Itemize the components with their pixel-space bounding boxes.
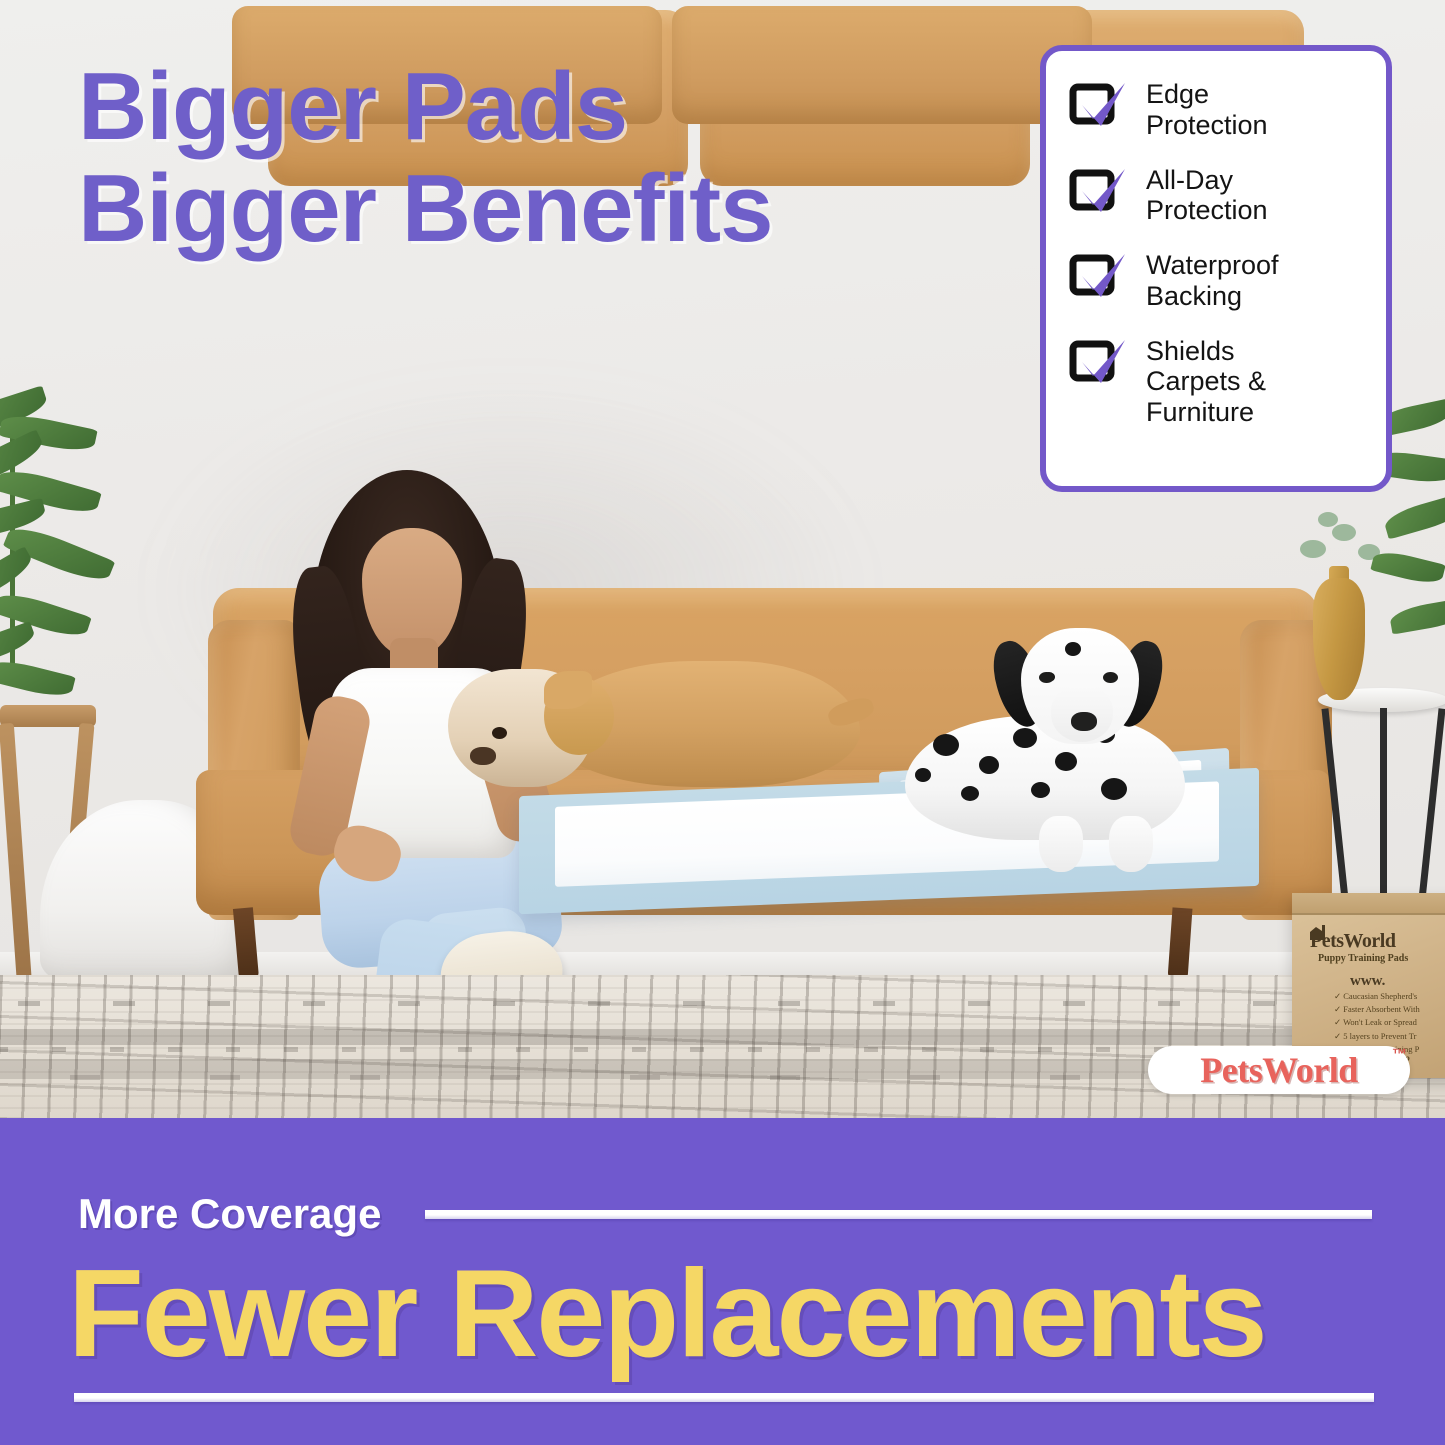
banner-headline-text: Fewer Replacements [68, 1243, 1266, 1385]
eucalyptus-leaf [1300, 540, 1326, 558]
dalmatian-paw [1109, 816, 1153, 872]
dalmatian-dog [905, 620, 1235, 870]
checkbox-check-icon [1068, 250, 1130, 304]
feature-item-waterproof-backing: Waterproof Backing [1068, 248, 1368, 312]
headline-line-1: Bigger Pads [78, 53, 627, 160]
feature-label: All-Day Protection [1146, 163, 1268, 227]
feature-label: Edge Protection [1146, 77, 1268, 141]
feature-item-edge-protection: Edge Protection [1068, 77, 1368, 141]
checkbox-check-icon [1068, 336, 1130, 390]
checkbox-check-icon [1068, 79, 1130, 133]
banner-bottom-rule [74, 1393, 1374, 1402]
headline-line-2: Bigger Benefits [78, 155, 772, 262]
brand-logo-pill: PetsWorld [1148, 1046, 1410, 1094]
banner-divider-rule [425, 1210, 1372, 1219]
feature-item-shields-carpets-furniture: Shields Carpets & Furniture [1068, 334, 1368, 428]
feature-item-all-day-protection: All-Day Protection [1068, 163, 1368, 227]
dalmatian-eye [1103, 672, 1118, 683]
box-website: www. [1350, 973, 1385, 990]
box-flap [1292, 893, 1445, 915]
box-feature-item: ✓ Won't Leak or Spread [1334, 1016, 1445, 1029]
product-marketing-poster: PetsWorld Puppy Training Pads www. ✓ Cau… [0, 0, 1445, 1445]
checkbox-check-icon [1068, 165, 1130, 219]
trademark-symbol: ™ [1392, 1046, 1407, 1063]
bulldog-head [448, 669, 594, 787]
page-title: Bigger Pads Bigger Benefits [78, 56, 772, 260]
face [362, 528, 462, 656]
feature-label: Shields Carpets & Furniture [1146, 334, 1266, 428]
box-feature-item: ✓ 5 layers to Prevent Tr [1334, 1030, 1445, 1043]
dalmatian-eye [1039, 672, 1054, 683]
feature-checklist-card: Edge Protection All-Day Protection Water… [1040, 45, 1392, 492]
dalmatian-paw [1039, 816, 1083, 872]
banner-kicker-text: More Coverage [78, 1190, 381, 1238]
feature-label: Waterproof Backing [1146, 248, 1279, 312]
dalmatian-nose [1071, 712, 1097, 731]
eucalyptus-leaf [1332, 524, 1356, 541]
brand-logo-text: PetsWorld [1200, 1049, 1357, 1091]
houseplant-left [0, 390, 180, 720]
gold-vase [1313, 578, 1365, 700]
box-tagline: Puppy Training Pads [1318, 953, 1445, 964]
box-feature-item: ✓ Faster Absorbent With [1334, 1003, 1445, 1016]
banner-kicker-row: More Coverage [78, 1190, 1372, 1238]
box-feature-item: ✓ Caucasian Shepherd's [1334, 990, 1445, 1003]
box-logo-text: PetsWorld [1310, 931, 1445, 951]
eucalyptus-leaf [1318, 512, 1338, 527]
